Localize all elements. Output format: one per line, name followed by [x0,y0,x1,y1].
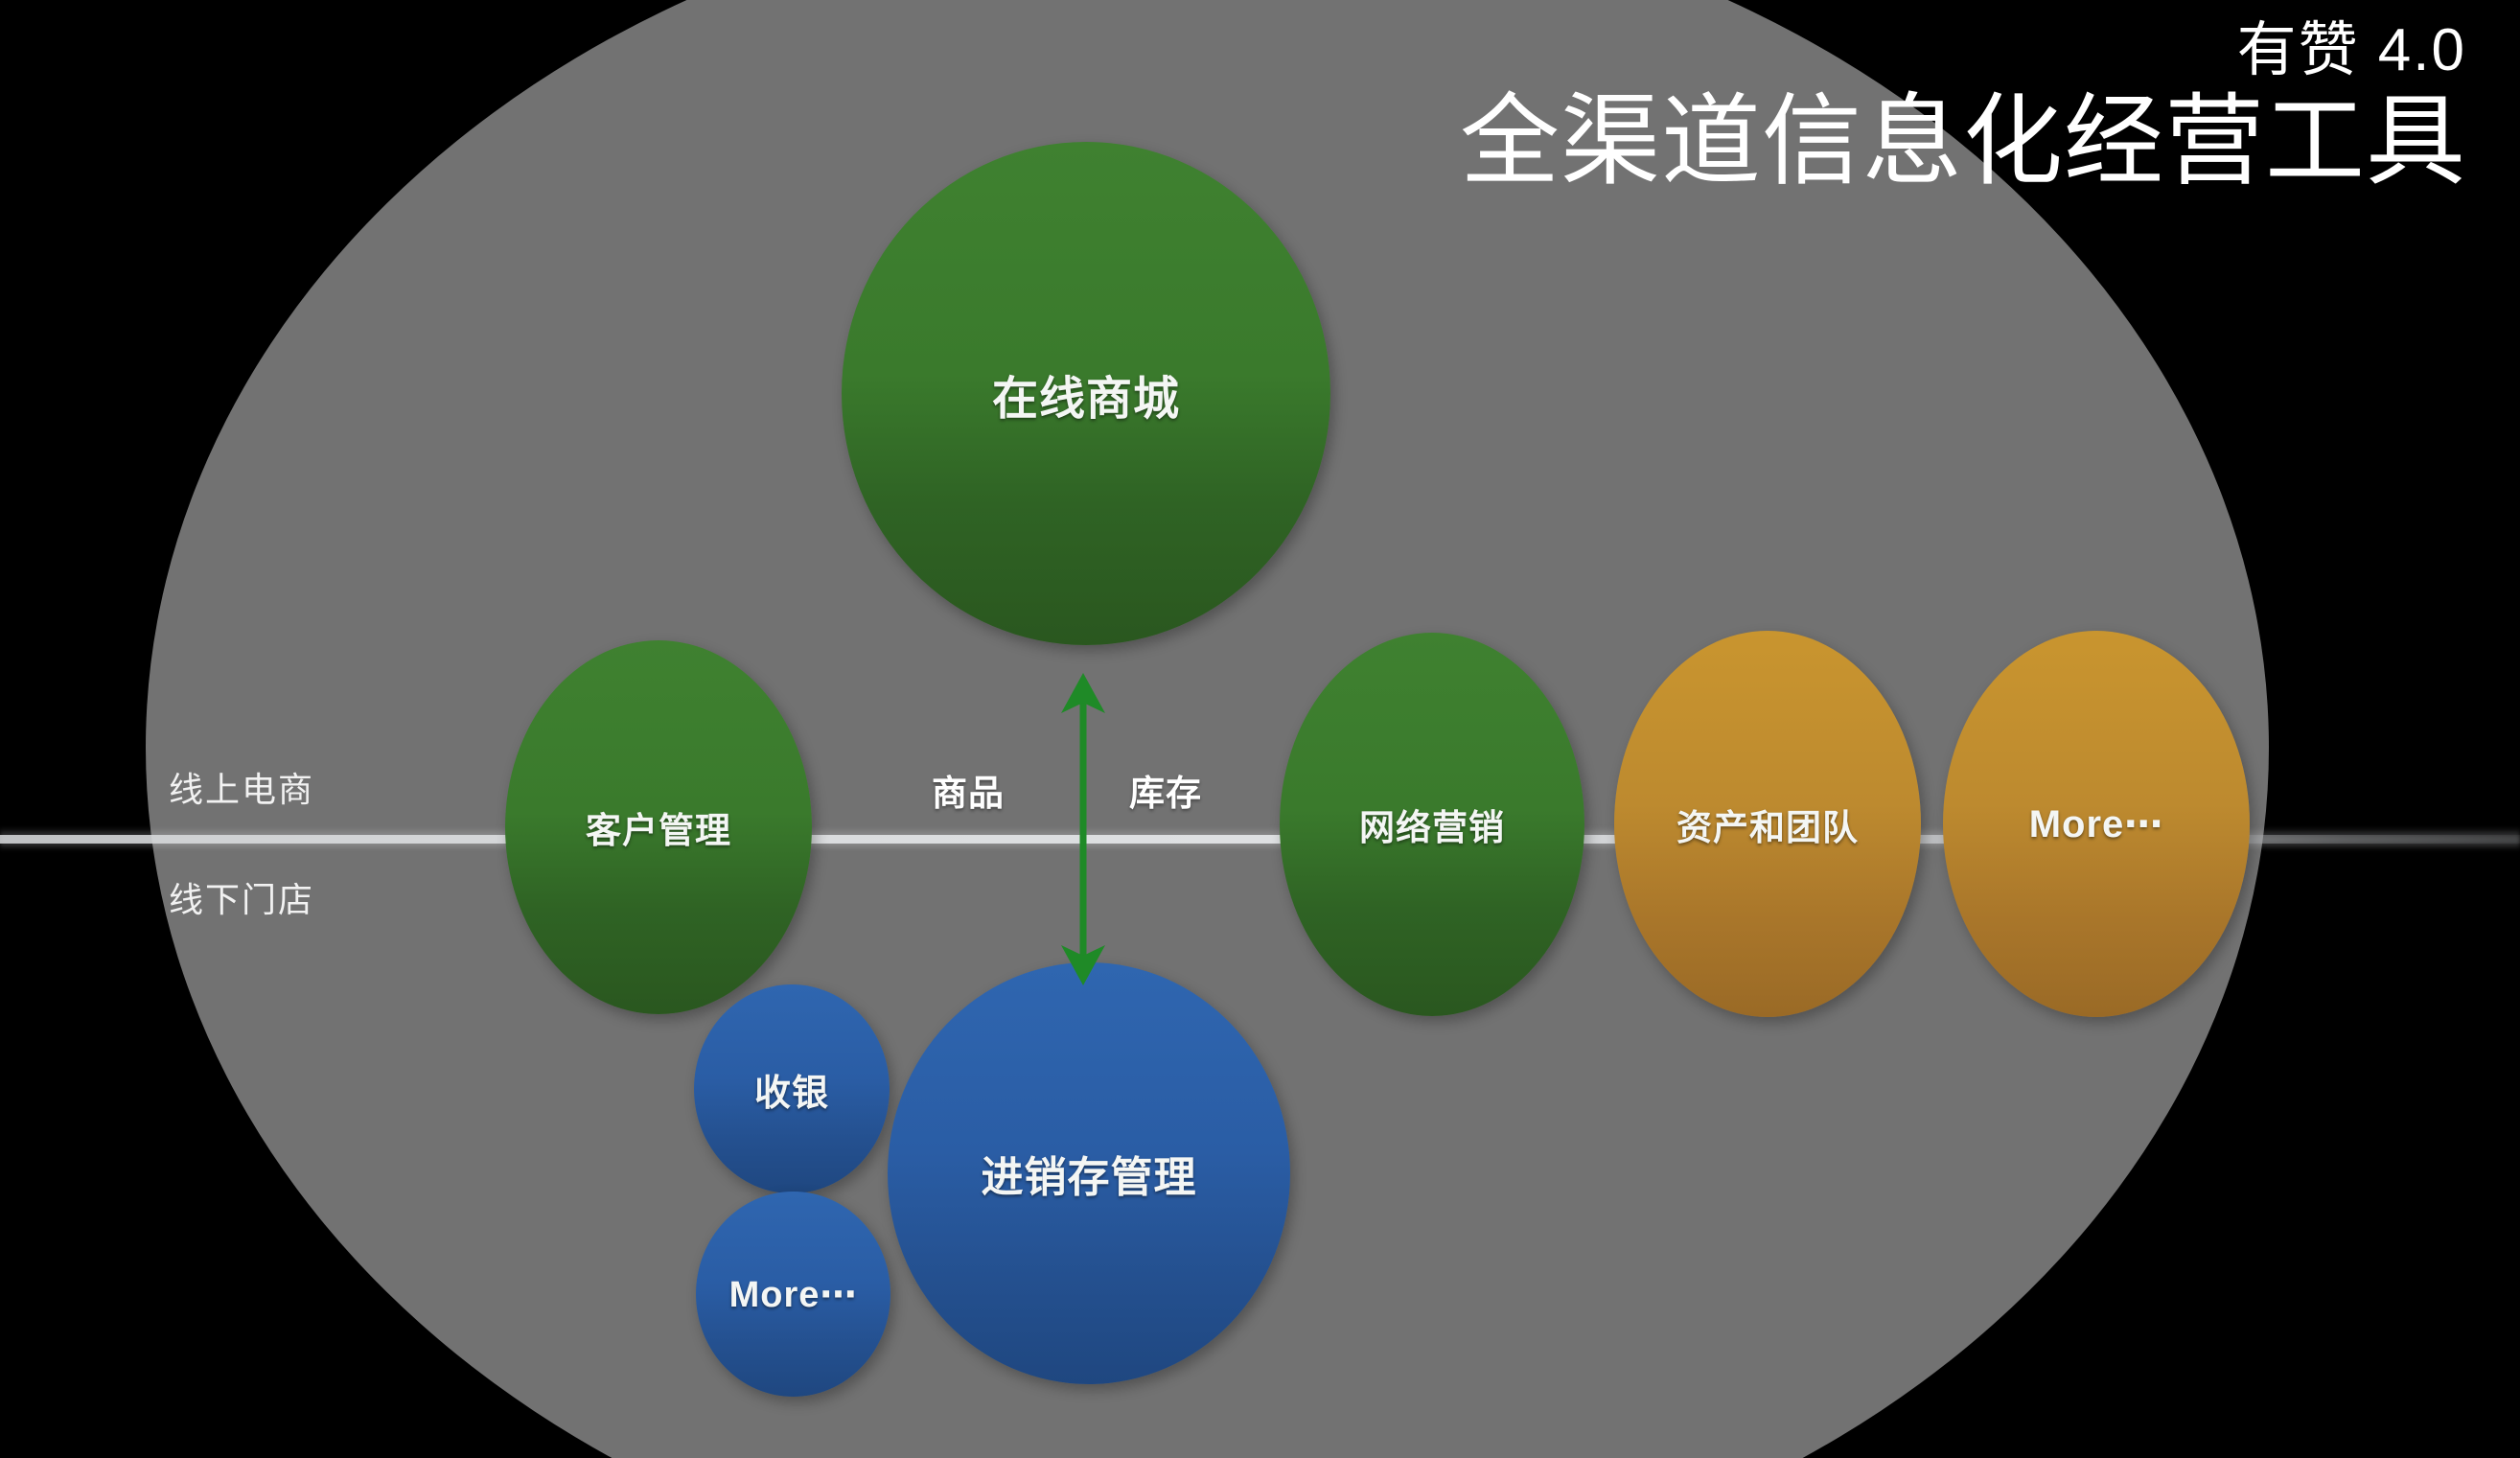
bubble-network-marketing[interactable]: 网络营销 [1280,633,1584,1016]
label-stock: 库存 [1129,764,1202,816]
bubble-label: 收银 [754,1063,829,1116]
bubble-customer-management[interactable]: 客户管理 [505,640,812,1014]
sync-arrow-icon [1040,671,1126,987]
label-goods: 商品 [932,764,1005,816]
bubble-label: 进销存管理 [982,1143,1197,1204]
bubble-label: 在线商城 [992,360,1180,428]
brand-version: 有赞 4.0 [1460,19,2466,81]
slide-canvas: 有赞 4.0 全渠道信息化经营工具 线上电商 线下门店 在线商城 客户管理 网络… [0,0,2520,1458]
bubble-label: More⋯ [729,1273,858,1316]
page-title: 全渠道信息化经营工具 [1460,83,2466,201]
bubble-assets-and-team[interactable]: 资产和团队 [1614,631,1921,1017]
bubble-label: More⋯ [2029,802,2164,846]
bubble-cashier[interactable]: 收银 [694,984,890,1193]
band-label-online: 线上电商 [169,762,314,812]
bubble-label: 资产和团队 [1676,798,1859,850]
bubble-more-blue[interactable]: More⋯ [696,1192,890,1397]
title-block: 有赞 4.0 全渠道信息化经营工具 [1460,19,2466,201]
band-label-offline: 线下门店 [169,872,314,922]
bubble-inventory-management[interactable]: 进销存管理 [888,962,1290,1384]
bubble-online-mall[interactable]: 在线商城 [842,142,1330,645]
bubble-label: 客户管理 [586,801,731,853]
bubble-label: 网络营销 [1359,798,1505,850]
bubble-more-orange[interactable]: More⋯ [1943,631,2250,1017]
